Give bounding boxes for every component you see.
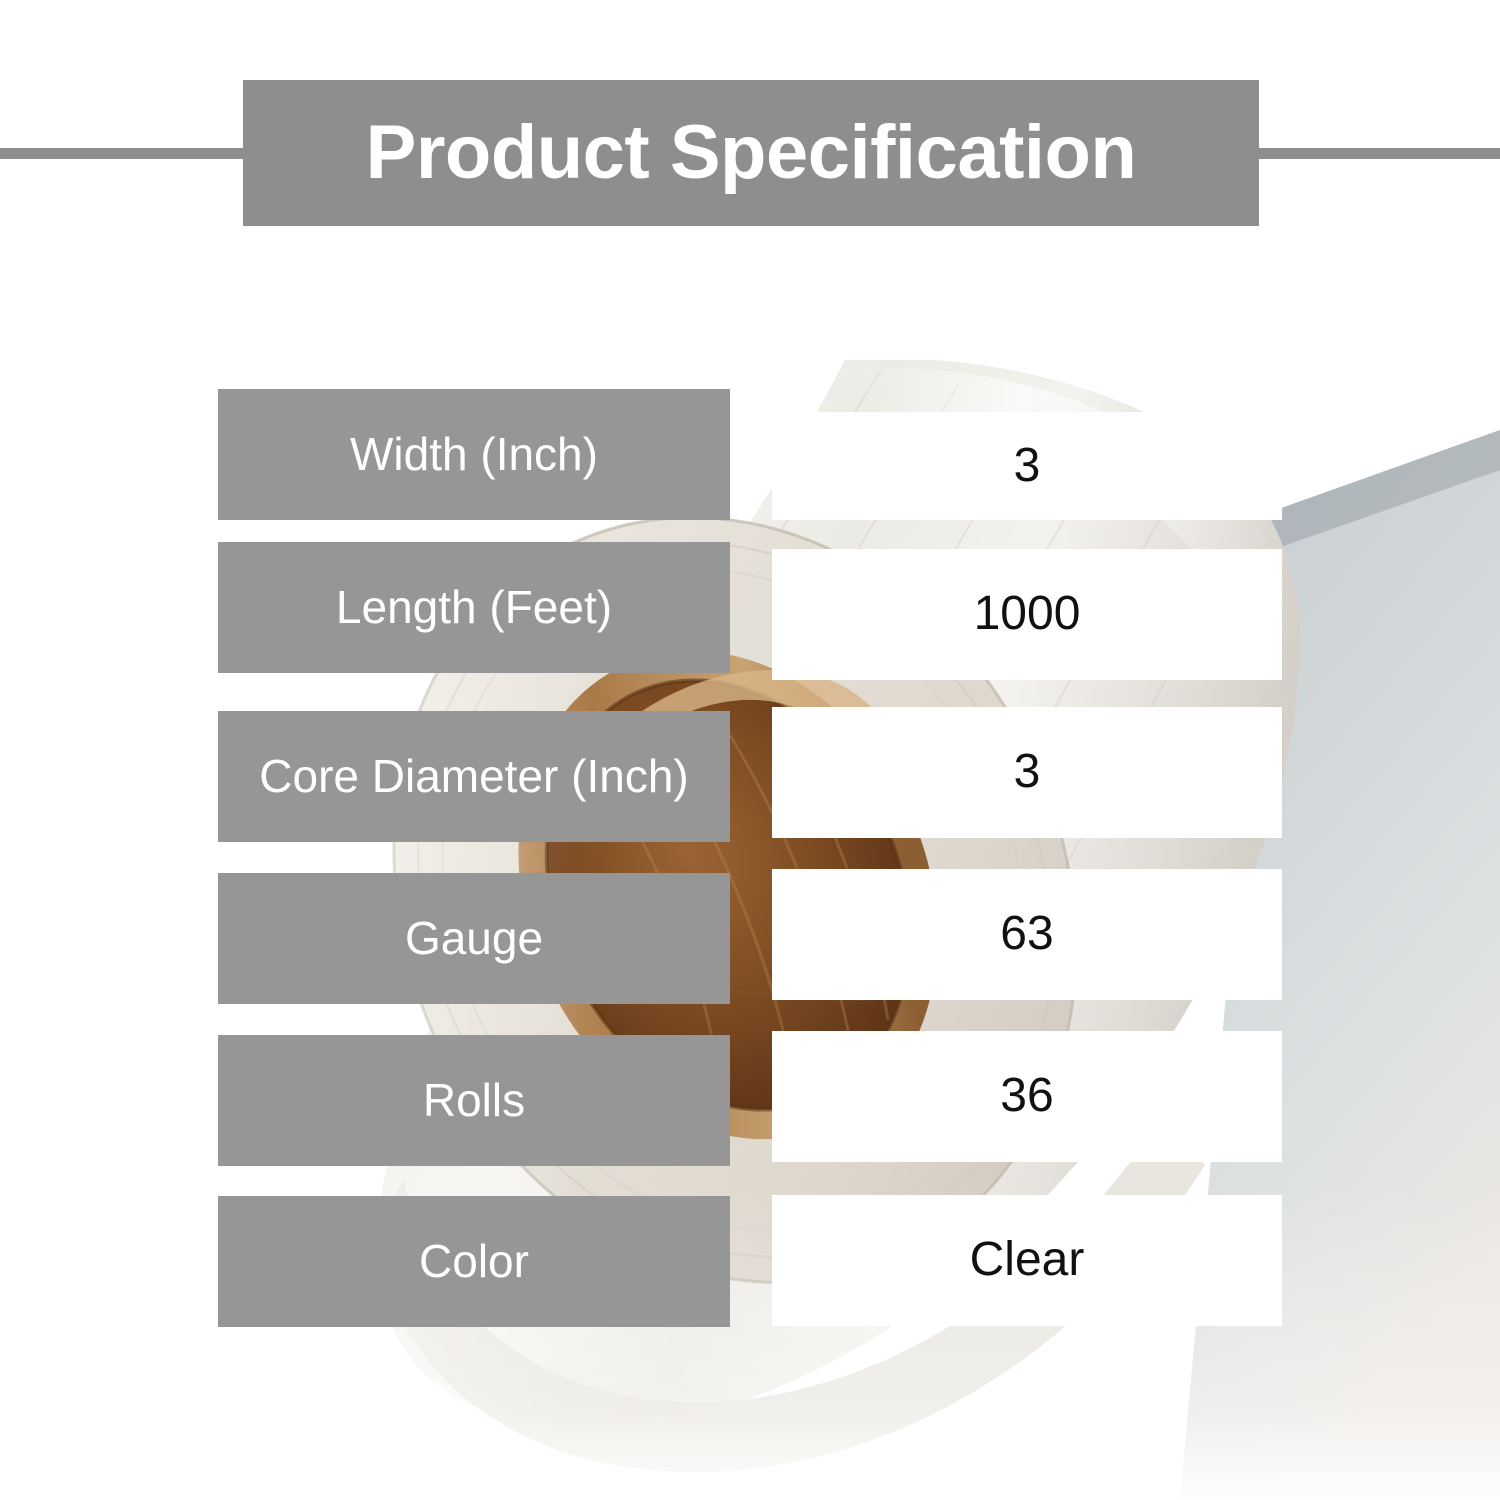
spec-value-rolls: 36 [772,1031,1282,1162]
spec-value-length: 1000 [772,549,1282,680]
product-specification-graphic: Product Specification Width (Inch) 3 Len… [0,0,1500,1500]
spec-label-width: Width (Inch) [218,389,730,520]
specification-table: Width (Inch) 3 Length (Feet) 1000 Core D… [0,0,1500,1500]
spec-value-gauge: 63 [772,869,1282,1000]
spec-label-gauge: Gauge [218,873,730,1004]
spec-value-core-diameter: 3 [772,707,1282,838]
spec-label-core-diameter: Core Diameter (Inch) [218,711,730,842]
spec-label-length: Length (Feet) [218,542,730,673]
spec-label-rolls: Rolls [218,1035,730,1166]
spec-label-color: Color [218,1196,730,1327]
spec-value-width: 3 [772,412,1282,520]
spec-value-color: Clear [772,1195,1282,1326]
